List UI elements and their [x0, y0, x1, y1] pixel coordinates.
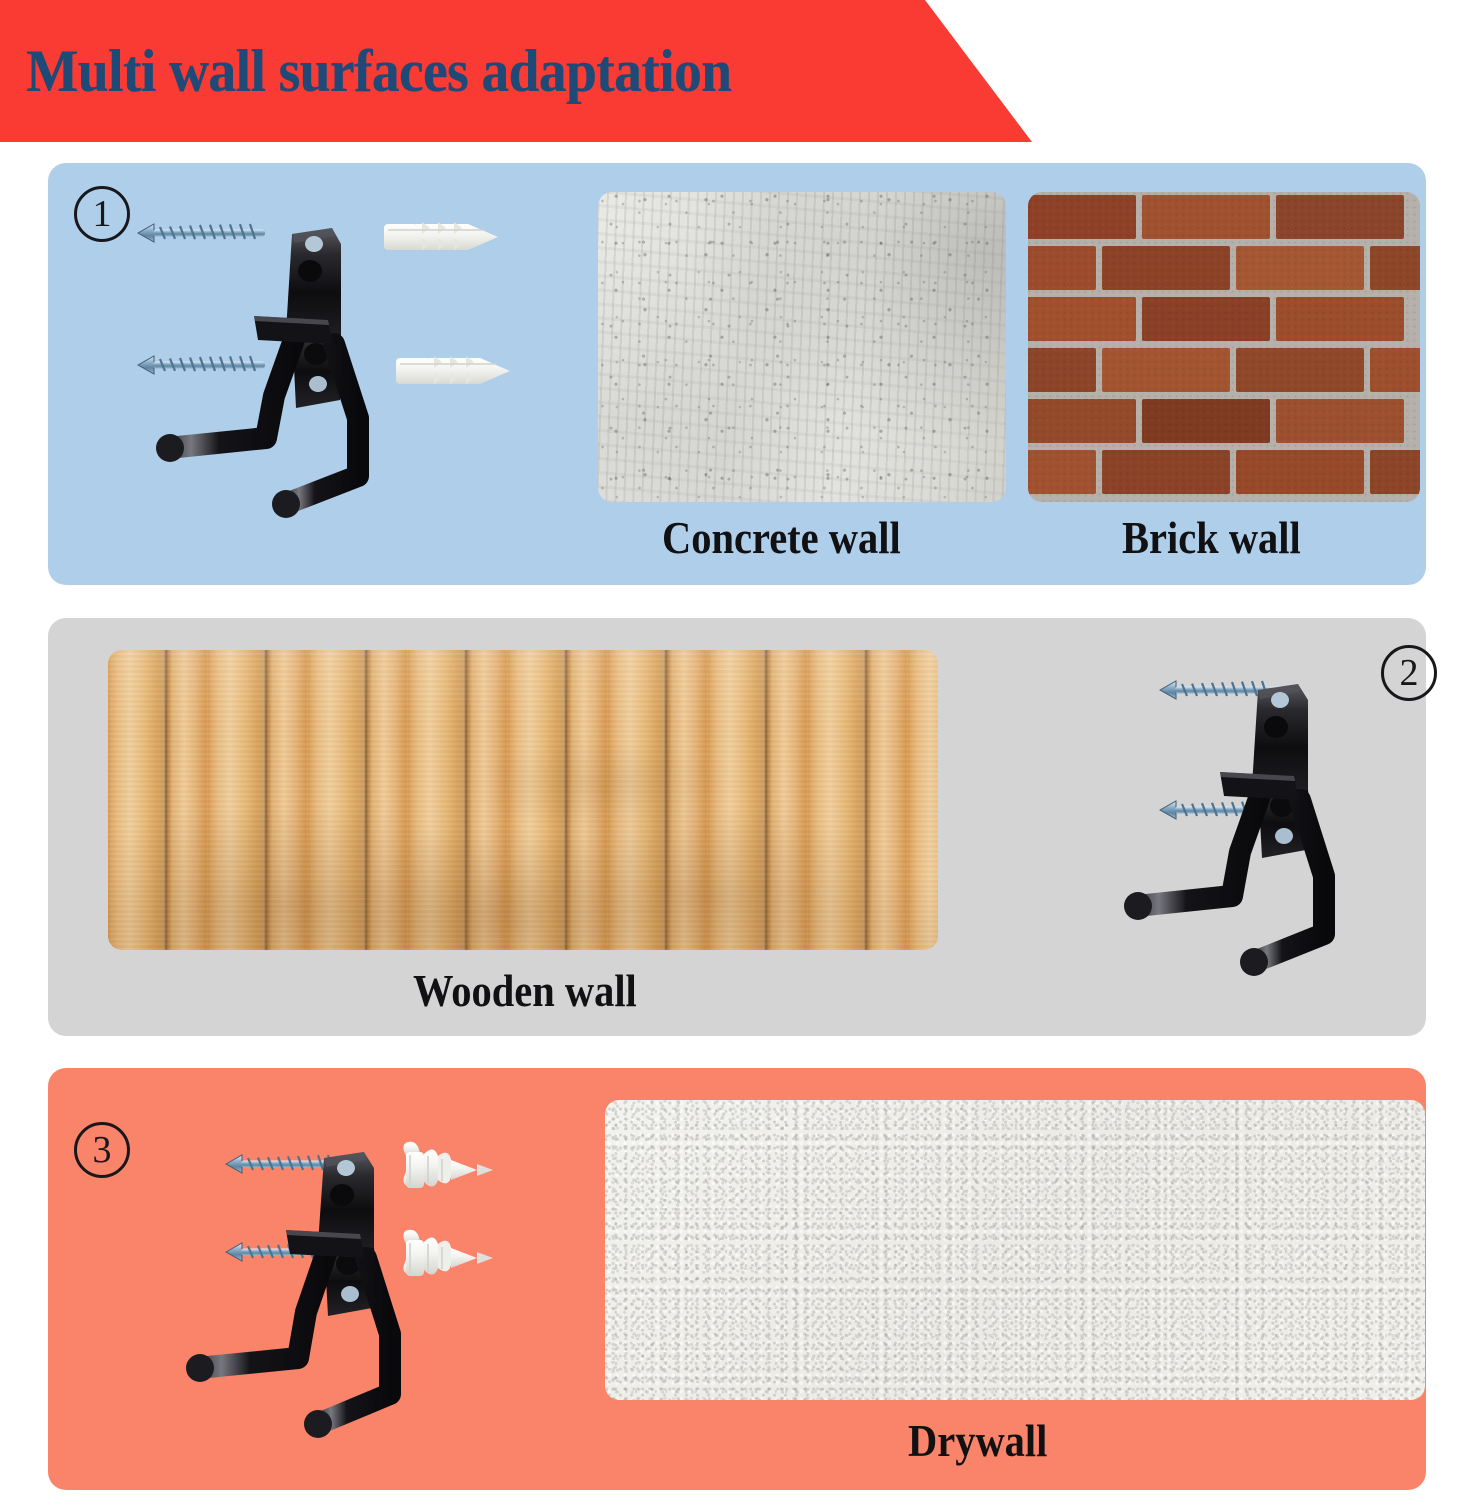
hook-assembly-2 [1086, 650, 1416, 1010]
screw-lower [138, 356, 265, 374]
hook-tip-front [156, 434, 184, 462]
hook-hardware-illustration [118, 1108, 568, 1468]
hook-tip-rear [1240, 948, 1268, 976]
screw-upper [138, 224, 265, 242]
concrete-wall-swatch [598, 192, 1006, 502]
caption-concrete-wall: Concrete wall [662, 515, 901, 561]
hook-arm-front [168, 334, 296, 448]
hook-tip-rear [272, 490, 300, 518]
hook-tip-front [1124, 892, 1152, 920]
hook-arm-front [198, 1248, 328, 1368]
caption-brick-wall: Brick wall [1122, 515, 1301, 561]
anchor-plug-lower [396, 356, 510, 384]
wooden-wall-swatch [108, 650, 938, 950]
drywall-anchor-lower [403, 1230, 493, 1276]
hook-assembly-1 [96, 186, 566, 556]
page-title: Multi wall surfaces adaptation [26, 41, 731, 101]
caption-drywall: Drywall [908, 1418, 1047, 1464]
anchor-plug-upper [384, 222, 498, 250]
hook-tip-front [186, 1354, 214, 1382]
hook-assembly-3 [118, 1108, 568, 1468]
drywall-anchor-upper [403, 1142, 493, 1188]
header-banner: Multi wall surfaces adaptation [0, 0, 1040, 142]
hook-hardware-illustration [1086, 650, 1416, 1010]
hook-tip-rear [304, 1410, 332, 1438]
brick-wall-swatch [1028, 192, 1420, 502]
caption-wooden-wall: Wooden wall [413, 968, 637, 1014]
hook-hardware-illustration [96, 186, 566, 556]
drywall-swatch [605, 1100, 1425, 1400]
brick-pattern [1028, 192, 1420, 502]
